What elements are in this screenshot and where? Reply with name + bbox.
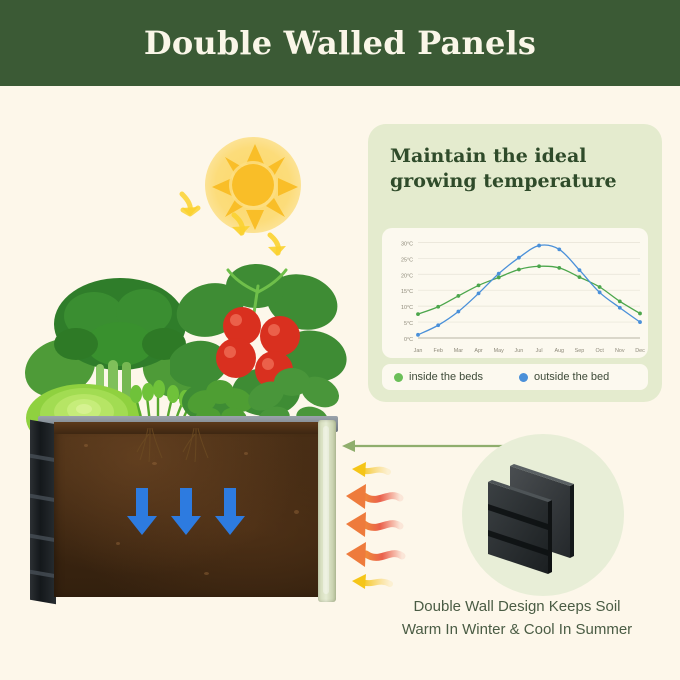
- infographic-page: Double Walled Panels: [0, 0, 680, 680]
- heat-wave-arrow-icon: [352, 574, 390, 589]
- x-axis-tick-label: Jul: [536, 348, 543, 354]
- series-point: [436, 323, 440, 327]
- y-axis-tick-label: 5°C: [404, 321, 413, 327]
- panel-caption: Double Wall Design Keeps Soil Warm In Wi…: [372, 596, 662, 641]
- x-axis-tick-label: Jun: [515, 348, 524, 354]
- series-point: [618, 306, 622, 310]
- series-point: [578, 268, 582, 272]
- x-axis-tick-label: Nov: [615, 348, 625, 354]
- legend-dot-green: [394, 373, 403, 382]
- y-axis-tick-label: 30°C: [401, 241, 413, 247]
- downward-arrow-icon: [126, 488, 158, 536]
- series-point: [638, 320, 642, 324]
- x-axis-tick-label: Jan: [414, 348, 423, 354]
- series-point: [456, 294, 460, 298]
- temperature-line-chart: 0°C5°C10°C15°C20°C25°C30°CJanFebMarAprMa…: [382, 228, 648, 358]
- page-title: Double Walled Panels: [144, 24, 536, 62]
- x-axis-tick-label: Apr: [474, 348, 483, 354]
- series-point: [436, 305, 440, 309]
- chart-heading-line1: Maintain the ideal: [390, 144, 650, 169]
- legend-label-outside: outside the bed: [534, 371, 609, 383]
- bed-corner-post: [318, 420, 336, 602]
- downward-arrow-icon: [170, 488, 202, 536]
- sun-ray-arrow-icon: [226, 208, 260, 242]
- x-axis-tick-label: May: [494, 348, 504, 354]
- x-axis-tick-label: Dec: [635, 348, 645, 354]
- legend-label-inside: inside the beds: [409, 371, 483, 383]
- series-point: [416, 333, 420, 337]
- plant-roots: [134, 428, 220, 464]
- series-point: [578, 275, 582, 279]
- chart-legend: inside the beds outside the bed: [382, 364, 648, 390]
- y-axis-tick-label: 10°C: [401, 305, 413, 311]
- series-point: [598, 285, 602, 289]
- y-axis-tick-label: 15°C: [401, 289, 413, 295]
- double-wall-panel-icon: [462, 434, 624, 596]
- series-point: [456, 310, 460, 314]
- x-axis-tick-label: Sep: [575, 348, 585, 354]
- series-point: [537, 264, 541, 268]
- series-point: [537, 244, 541, 248]
- downward-arrow-icon: [214, 488, 246, 536]
- x-axis-tick-label: Oct: [595, 348, 604, 354]
- chart-heading-line2: growing temperature: [390, 169, 650, 194]
- y-axis-tick-label: 0°C: [404, 337, 413, 343]
- heat-wave-arrow-icon: [352, 462, 388, 477]
- x-axis-tick-label: Mar: [454, 348, 463, 354]
- series-point: [557, 247, 561, 251]
- series-point: [477, 291, 481, 295]
- series-point: [517, 268, 521, 272]
- series-point: [618, 299, 622, 303]
- y-axis-tick-label: 25°C: [401, 257, 413, 263]
- series-point: [477, 284, 481, 288]
- chart-plot-area: 0°C5°C10°C15°C20°C25°C30°CJanFebMarAprMa…: [382, 228, 648, 358]
- legend-item-inside-the-beds[interactable]: inside the beds: [394, 371, 483, 383]
- series-point: [497, 276, 501, 280]
- x-axis-tick-label: Feb: [434, 348, 443, 354]
- double-wall-panel-illustration: [462, 434, 624, 596]
- series-point: [638, 312, 642, 316]
- page-header: Double Walled Panels: [0, 0, 680, 86]
- sun-ray-arrow-icon: [176, 188, 210, 222]
- heat-wave-arrow-icon: [346, 542, 402, 567]
- caption-line1: Double Wall Design Keeps Soil: [372, 596, 662, 619]
- heat-wave-arrow-icon: [346, 512, 400, 537]
- heat-wave-arrow-icon: [346, 484, 400, 509]
- caption-line2: Warm In Winter & Cool In Summer: [372, 619, 662, 642]
- sun-core: [232, 164, 274, 206]
- chart-heading: Maintain the ideal growing temperature: [390, 144, 650, 194]
- temperature-chart-card: Maintain the ideal growing temperature 0…: [368, 124, 662, 402]
- series-point: [416, 312, 420, 316]
- legend-dot-blue: [519, 373, 528, 382]
- series-point: [517, 256, 521, 260]
- legend-item-outside-the-bed[interactable]: outside the bed: [519, 371, 609, 383]
- double-wall-left-panel: [30, 420, 56, 605]
- y-axis-tick-label: 20°C: [401, 273, 413, 279]
- series-point: [557, 266, 561, 270]
- series-point: [497, 272, 501, 276]
- series-point: [598, 291, 602, 295]
- raised-garden-bed-illustration: [18, 250, 348, 650]
- x-axis-tick-label: Aug: [554, 348, 564, 354]
